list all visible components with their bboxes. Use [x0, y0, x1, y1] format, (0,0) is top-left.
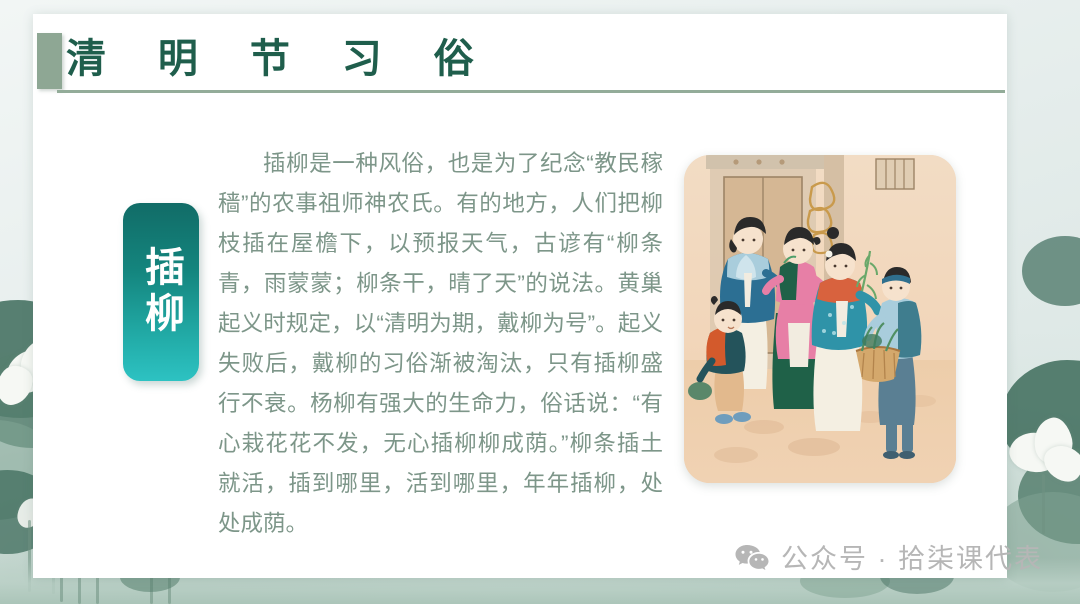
body-paragraph: 插柳是一种风俗，也是为了纪念“教民稼穑”的农事祖师神农氏。有的地方，人们把柳枝插…: [218, 144, 663, 544]
slide-header: 清 明 节 习 俗: [33, 14, 1007, 104]
section-badge-label: 插柳: [136, 246, 186, 338]
page-title: 清 明 节 习 俗: [66, 30, 493, 88]
title-accent-bar: [37, 33, 62, 89]
content-card: 清 明 节 习 俗 插柳 插柳是一种风俗，也是为了纪念“教民稼穑”的农事祖师神农…: [33, 14, 1007, 578]
slide-root: 清 明 节 习 俗 插柳 插柳是一种风俗，也是为了纪念“教民稼穑”的农事祖师神农…: [0, 0, 1080, 604]
title-divider: [57, 90, 1005, 93]
section-badge: 插柳: [123, 203, 199, 381]
watermark-text: 公众号 · 拾柒课代表: [781, 537, 1043, 576]
wechat-icon: [735, 544, 769, 570]
watermark: 公众号 · 拾柒课代表: [735, 537, 1043, 576]
illustration-image: [684, 155, 956, 483]
illustration-artwork: [684, 155, 956, 483]
